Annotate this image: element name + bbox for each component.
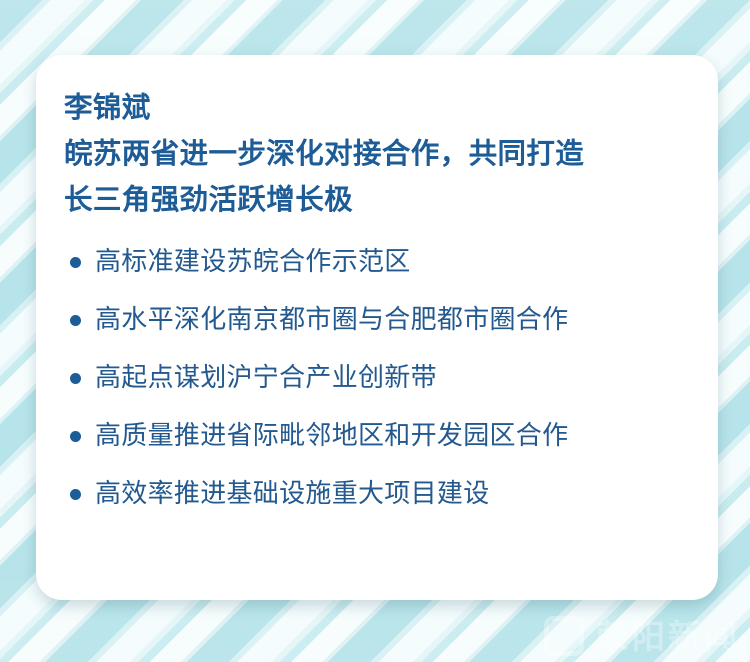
- title-line-1: 皖苏两省进一步深化对接合作，共同打造: [64, 131, 690, 177]
- list-item: 高标准建设苏皖合作示范区: [64, 232, 690, 290]
- bullet-dot-icon: [70, 489, 81, 500]
- list-item: 高水平深化南京都市圈与合肥都市圈合作: [64, 290, 690, 348]
- list-item-label: 高标准建设苏皖合作示范区: [95, 246, 411, 277]
- bullet-dot-icon: [70, 373, 81, 384]
- bullet-dot-icon: [70, 257, 81, 268]
- bullet-list: 高标准建设苏皖合作示范区 高水平深化南京都市圈与合肥都市圈合作 高起点谋划沪宁合…: [64, 232, 690, 522]
- list-item-label: 高效率推进基础设施重大项目建设: [95, 478, 490, 509]
- list-item: 高质量推进省际毗邻地区和开发园区合作: [64, 406, 690, 464]
- bullet-dot-icon: [70, 315, 81, 326]
- list-item-label: 高水平深化南京都市圈与合肥都市圈合作: [95, 304, 568, 335]
- poster-root: 荥阳新闻 李锦斌 皖苏两省进一步深化对接合作，共同打造 长三角强劲活跃增长极 高…: [0, 0, 750, 662]
- list-item: 高起点谋划沪宁合产业创新带: [64, 348, 690, 406]
- title-line-2: 长三角强劲活跃增长极: [64, 177, 690, 223]
- content-card: 李锦斌 皖苏两省进一步深化对接合作，共同打造 长三角强劲活跃增长极 高标准建设苏…: [36, 55, 718, 600]
- page-title: 李锦斌 皖苏两省进一步深化对接合作，共同打造 长三角强劲活跃增长极: [64, 85, 690, 223]
- bullet-dot-icon: [70, 431, 81, 442]
- list-item: 高效率推进基础设施重大项目建设: [64, 464, 690, 522]
- card-inner: 李锦斌 皖苏两省进一步深化对接合作，共同打造 长三角强劲活跃增长极 高标准建设苏…: [36, 55, 718, 522]
- list-item-label: 高质量推进省际毗邻地区和开发园区合作: [95, 420, 568, 451]
- title-speaker-name: 李锦斌: [64, 85, 690, 131]
- list-item-label: 高起点谋划沪宁合产业创新带: [95, 362, 437, 393]
